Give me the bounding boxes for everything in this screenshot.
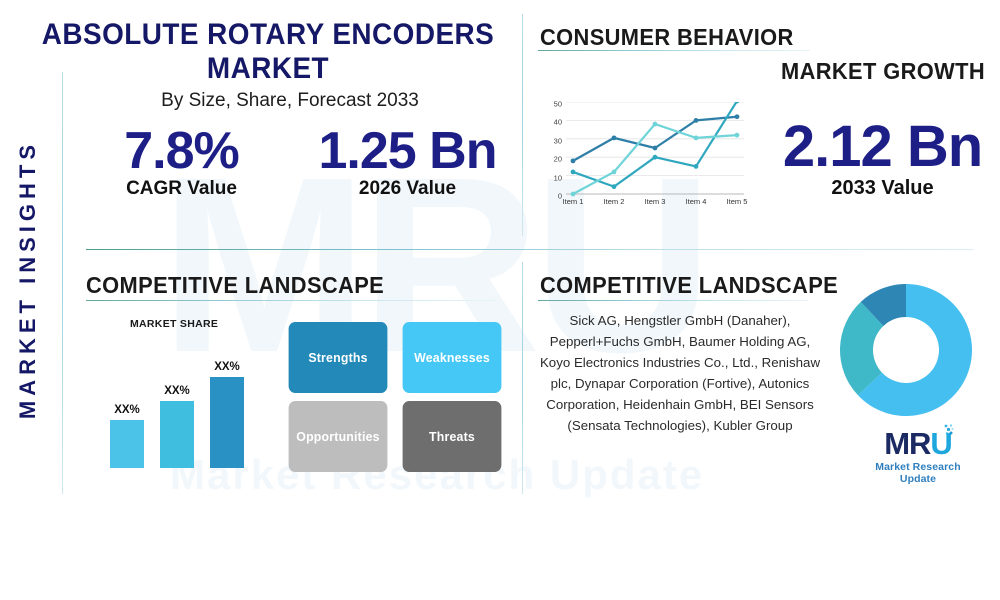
logo-sparkle-icon bbox=[943, 424, 955, 438]
page-title: ABSOLUTE ROTARY ENCODERS MARKET bbox=[36, 18, 501, 86]
section-underline-consumer-behavior bbox=[538, 50, 810, 51]
logo-tagline: Market Research Update bbox=[856, 461, 980, 485]
line-data-point bbox=[653, 146, 658, 151]
line-data-point bbox=[694, 135, 699, 140]
line-data-point bbox=[571, 170, 576, 175]
logo-mark: MRU bbox=[884, 428, 952, 460]
divider-vertical-bottom bbox=[522, 262, 523, 494]
x-axis-tick-label: Item 5 bbox=[727, 197, 748, 206]
line-data-point bbox=[653, 155, 658, 160]
line-data-point bbox=[694, 118, 699, 123]
bar-value-label: XX% bbox=[110, 404, 144, 416]
bar-value-label: XX% bbox=[160, 385, 194, 397]
y-axis-tick-label: 10 bbox=[554, 173, 562, 182]
kpi-base-year-label: 2026 Value bbox=[300, 178, 515, 200]
section-heading-competitive-landscape-left: COMPETITIVE LANDSCAPE bbox=[86, 272, 384, 299]
section-heading-consumer-behavior: CONSUMER BEHAVIOR bbox=[540, 24, 794, 51]
market-share-bar-chart: MARKET SHARE XX%XX%XX% bbox=[96, 318, 276, 473]
line-data-point bbox=[612, 170, 617, 175]
bar-chart-title: MARKET SHARE bbox=[130, 318, 218, 330]
side-label-text: MARKET INSIGHTS bbox=[15, 140, 41, 419]
line-chart-plot-area: 01020304050Item 1Item 2Item 3Item 4Item … bbox=[566, 102, 744, 194]
y-axis-tick-label: 50 bbox=[554, 100, 562, 109]
line-data-point bbox=[653, 122, 658, 127]
line-data-point bbox=[571, 158, 576, 163]
kpi-cagr-value: 7.8% bbox=[84, 122, 279, 180]
line-chart-svg bbox=[566, 102, 744, 200]
line-series-2 bbox=[573, 102, 737, 187]
kpi-forecast-year: 2.12 Bn 2033 Value bbox=[770, 115, 995, 200]
bar-group: XX% bbox=[210, 361, 244, 468]
bar-value-label: XX% bbox=[210, 361, 244, 373]
line-data-point bbox=[612, 184, 617, 189]
mru-logo: MRU Market Research Update bbox=[856, 428, 980, 485]
divider-horizontal bbox=[86, 249, 974, 250]
section-underline-competitive-landscape-right bbox=[538, 300, 808, 301]
competitor-company-list: Sick AG, Hengstler GmbH (Danaher), Peppe… bbox=[538, 310, 822, 436]
section-heading-market-growth: MARKET GROWTH bbox=[781, 58, 985, 85]
x-axis-tick-label: Item 1 bbox=[563, 197, 584, 206]
bar-group: XX% bbox=[160, 385, 194, 468]
swot-box-threats[interactable]: Threats bbox=[403, 401, 502, 472]
swot-box-weaknesses[interactable]: Weaknesses bbox=[403, 322, 502, 393]
kpi-cagr: 7.8% CAGR Value bbox=[84, 122, 279, 200]
consumer-behavior-line-chart: 01020304050Item 1Item 2Item 3Item 4Item … bbox=[548, 100, 758, 218]
x-axis-tick-label: Item 2 bbox=[604, 197, 625, 206]
kpi-base-year-value: 1.25 Bn bbox=[300, 122, 515, 180]
swot-box-opportunities[interactable]: Opportunities bbox=[289, 401, 388, 472]
line-data-point bbox=[735, 114, 740, 119]
line-data-point bbox=[694, 164, 699, 169]
page-subtitle: By Size, Share, Forecast 2033 bbox=[80, 90, 500, 112]
donut-chart-svg bbox=[832, 276, 980, 424]
section-heading-competitive-landscape-right: COMPETITIVE LANDSCAPE bbox=[540, 272, 838, 299]
kpi-cagr-label: CAGR Value bbox=[84, 178, 279, 200]
market-share-donut-chart bbox=[832, 276, 980, 424]
bar-group: XX% bbox=[110, 404, 144, 468]
bar bbox=[110, 420, 144, 468]
bar bbox=[160, 401, 194, 468]
line-data-point bbox=[735, 133, 740, 138]
swot-matrix: StrengthsWeaknessesOpportunitiesThreats bbox=[286, 322, 504, 472]
kpi-forecast-year-label: 2033 Value bbox=[770, 177, 995, 200]
swot-box-strengths[interactable]: Strengths bbox=[289, 322, 388, 393]
bar bbox=[210, 377, 244, 468]
divider-vertical-left bbox=[62, 72, 63, 494]
line-data-point bbox=[571, 192, 576, 197]
x-axis-tick-label: Item 4 bbox=[686, 197, 707, 206]
kpi-forecast-year-value: 2.12 Bn bbox=[770, 115, 995, 179]
y-axis-tick-label: 20 bbox=[554, 155, 562, 164]
logo-mark-mr: MR bbox=[884, 426, 930, 461]
y-axis-tick-label: 30 bbox=[554, 136, 562, 145]
x-axis-tick-label: Item 3 bbox=[645, 197, 666, 206]
vertical-side-label: MARKET INSIGHTS bbox=[0, 60, 56, 500]
kpi-base-year: 1.25 Bn 2026 Value bbox=[300, 122, 515, 200]
y-axis-tick-label: 40 bbox=[554, 118, 562, 127]
line-data-point bbox=[612, 135, 617, 140]
divider-vertical-top bbox=[522, 14, 523, 236]
section-underline-competitive-landscape-left bbox=[86, 300, 496, 301]
y-axis-tick-label: 0 bbox=[558, 192, 562, 201]
